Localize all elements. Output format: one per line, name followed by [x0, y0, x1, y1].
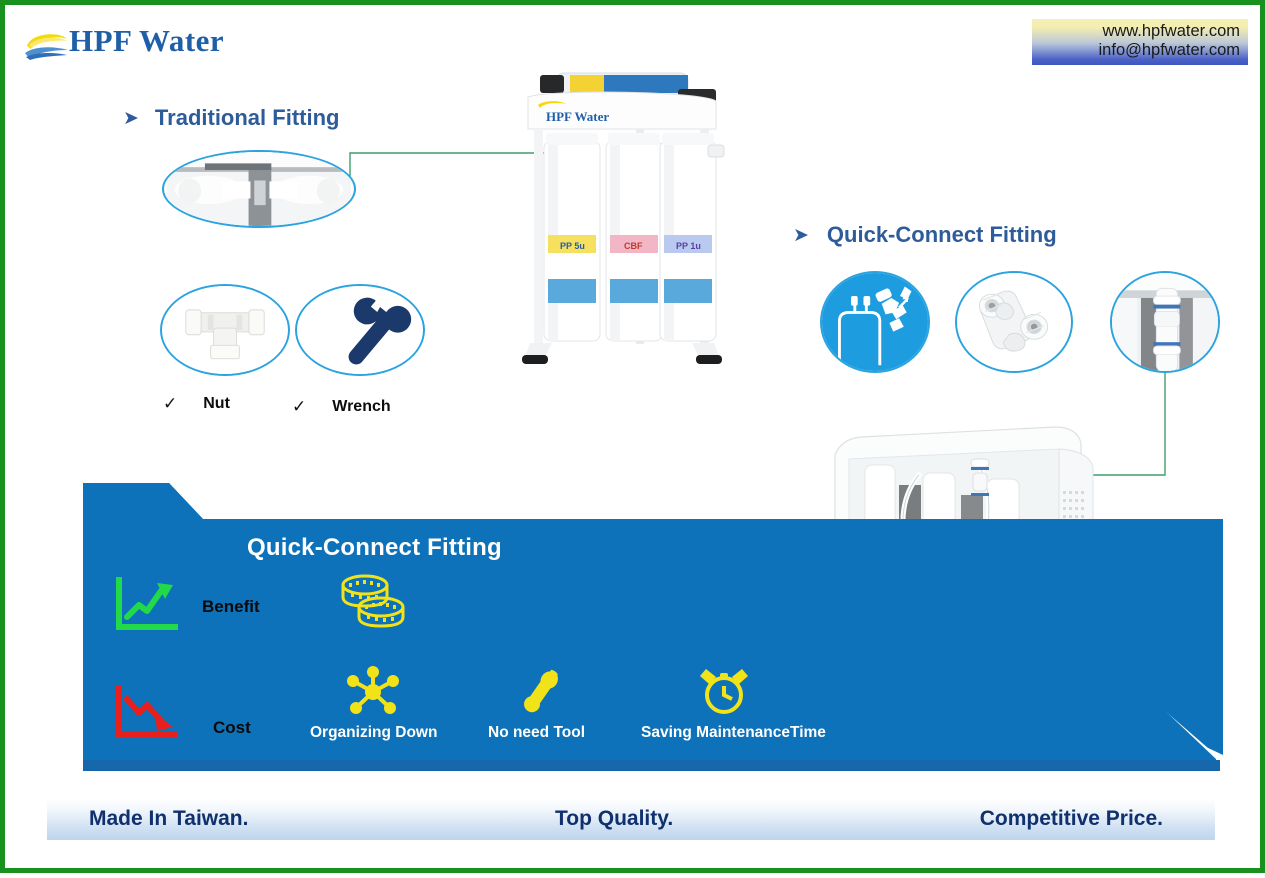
- footer-top-quality: Top Quality.: [555, 807, 673, 831]
- svg-text:CBF: CBF: [624, 241, 643, 251]
- organizing-down-label: Organizing Down: [310, 724, 437, 742]
- chart-up-green-icon: [113, 577, 179, 633]
- svg-text:HPF Water: HPF Water: [546, 109, 609, 124]
- quick-connect-elbow-fitting-photo: [957, 273, 1071, 371]
- slide-canvas: HPF Water www.hpfwater.com info@hpfwater…: [0, 0, 1265, 873]
- wrench-icon: [297, 286, 423, 374]
- footer-competitive-price: Competitive Price.: [980, 807, 1163, 831]
- check-icon: ✓: [163, 394, 177, 414]
- nut-fitting-circle[interactable]: [160, 284, 290, 376]
- website-text[interactable]: www.hpfwater.com: [1040, 22, 1240, 41]
- footer-made-in-taiwan: Made In Taiwan.: [89, 807, 248, 831]
- installed-quick-connect-closeup-photo: [1112, 273, 1218, 371]
- benefits-panel-title: Quick-Connect Fitting: [247, 534, 502, 562]
- wrench-yellow-icon: [517, 667, 569, 717]
- cost-chart-icon-wrap: [113, 685, 179, 741]
- check-icon: ✓: [292, 397, 306, 417]
- no-need-tool-label: No need Tool: [488, 724, 585, 742]
- wrench-check-item: ✓ Wrench: [292, 397, 391, 417]
- quick-connect-elbow-fitting-circle[interactable]: [955, 271, 1073, 373]
- traditional-fitting-closeup[interactable]: [162, 150, 356, 228]
- benefit-chart-icon-wrap: [113, 577, 179, 633]
- bullet-arrow-icon: ➤: [793, 224, 809, 247]
- ro-water-purifier-system-photo[interactable]: HPF Water PP 5u CBF: [510, 67, 735, 372]
- clock-icon-wrap: [697, 665, 751, 719]
- benefit-label: Benefit: [202, 597, 260, 617]
- alarm-clock-icon: [697, 665, 751, 719]
- cost-label: Cost: [213, 718, 251, 738]
- email-text[interactable]: info@hpfwater.com: [1040, 41, 1240, 60]
- sun-wave-logo-icon: [23, 29, 71, 63]
- quick-connect-fitting-heading: ➤ Quick-Connect Fitting: [793, 222, 1057, 248]
- network-icon-wrap: [343, 665, 403, 719]
- chart-down-red-icon: [113, 685, 179, 741]
- ro-system-art: HPF Water PP 5u CBF: [510, 67, 735, 372]
- traditional-fitting-title: Traditional Fitting: [155, 105, 340, 131]
- traditional-fitting-closeup-art: [164, 152, 354, 226]
- contact-info-box[interactable]: www.hpfwater.com info@hpfwater.com: [1032, 19, 1248, 65]
- network-nodes-icon: [343, 665, 403, 719]
- svg-text:PP 5u: PP 5u: [560, 241, 585, 251]
- wrench-label: Wrench: [332, 398, 390, 416]
- bullet-arrow-icon: ➤: [123, 107, 139, 130]
- saving-maintenance-time-label: Saving MaintenanceTime: [641, 724, 826, 742]
- brand-logo-text: HPF Water: [69, 23, 224, 59]
- quick-connect-fitting-title: Quick-Connect Fitting: [827, 222, 1057, 248]
- wrench-circle[interactable]: [295, 284, 425, 376]
- tool-icon-wrap: [517, 667, 569, 717]
- push-fit-install-diagram-icon: [822, 273, 928, 371]
- tee-nut-fitting-icon: [162, 286, 288, 374]
- coins-icon-wrap: [335, 571, 411, 631]
- push-fit-install-diagram-circle[interactable]: [820, 271, 930, 373]
- installed-quick-connect-circle[interactable]: [1110, 271, 1220, 373]
- nut-check-item: ✓ Nut: [163, 394, 230, 414]
- svg-text:PP 1u: PP 1u: [676, 241, 701, 251]
- traditional-fitting-heading: ➤ Traditional Fitting: [123, 105, 339, 131]
- coins-icon: [335, 571, 411, 631]
- brand-logo: HPF Water: [23, 23, 273, 71]
- nut-label: Nut: [203, 395, 230, 413]
- footer-bar: Made In Taiwan. Top Quality. Competitive…: [47, 798, 1215, 840]
